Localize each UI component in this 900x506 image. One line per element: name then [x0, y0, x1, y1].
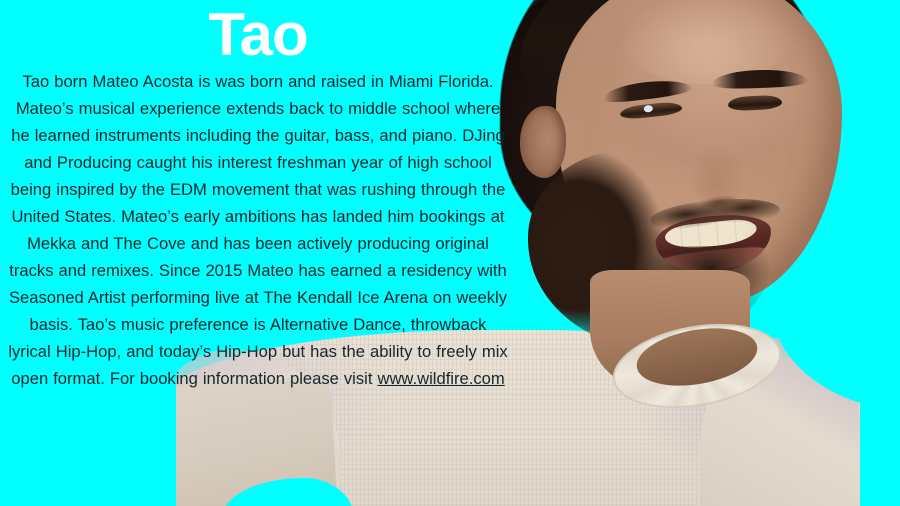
arm-left-sleeve	[101, 376, 337, 506]
sweater-collar-opening	[632, 320, 762, 394]
ear	[520, 106, 566, 178]
bio-paragraph: Tao born Mateo Acosta is was born and ra…	[0, 68, 516, 392]
beard	[528, 150, 778, 350]
neck	[590, 270, 750, 390]
eye-glint	[643, 105, 653, 113]
beard-jawline	[636, 246, 786, 324]
mouth	[653, 210, 774, 278]
background-right-upper	[812, 0, 900, 360]
slide-canvas: Tao Tao born Mateo Acosta is was born an…	[0, 0, 900, 506]
teeth	[664, 218, 758, 251]
sweater-collar	[606, 312, 787, 420]
arm-cutout-notch	[222, 478, 354, 506]
bio-paragraph-text: Tao born Mateo Acosta is was born and ra…	[8, 72, 507, 388]
eye-right	[728, 95, 783, 112]
booking-website-link[interactable]: www.wildfire.com	[377, 369, 504, 388]
face	[556, 0, 842, 304]
hair-top	[520, 0, 820, 110]
eyebrow-right	[712, 68, 809, 89]
eye-left	[619, 101, 682, 120]
text-block: Tao Tao born Mateo Acosta is was born an…	[0, 0, 516, 392]
lower-lip	[663, 245, 767, 276]
nostril	[699, 193, 738, 210]
page-title: Tao	[0, 0, 516, 68]
background-right-shoulder-notch	[770, 300, 900, 410]
shoulder-right	[700, 336, 860, 506]
nose	[690, 118, 760, 210]
mustache	[649, 194, 781, 235]
eyebrow-left	[603, 77, 692, 105]
forehead-highlight	[620, 0, 790, 84]
hair	[500, 0, 830, 270]
